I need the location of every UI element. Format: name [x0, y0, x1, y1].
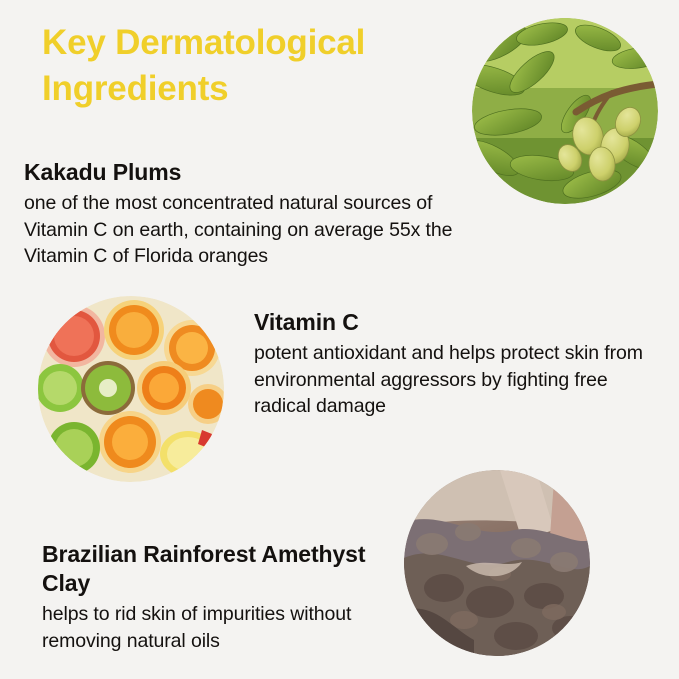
ingredients-infographic: Key Dermatological Ingredients — [0, 0, 679, 679]
section-kakadu-plums: Kakadu Plums one of the most concentrate… — [24, 158, 484, 270]
section-vitamin-c: Vitamin C potent antioxidant and helps p… — [254, 308, 654, 420]
sliced-citrus-fruit-photo — [38, 296, 224, 482]
amethyst-clay-powder-photo — [404, 470, 590, 656]
section-amethyst-clay: Brazilian Rainforest Amethyst Clay helps… — [42, 540, 382, 654]
section-heading: Vitamin C — [254, 308, 654, 337]
kakadu-plum-tree-photo — [472, 18, 658, 204]
page-title: Key Dermatological Ingredients — [42, 20, 482, 112]
section-body: potent antioxidant and helps protect ski… — [254, 340, 654, 420]
section-body: one of the most concentrated natural sou… — [24, 190, 484, 270]
section-body: helps to rid skin of impurities without … — [42, 601, 382, 654]
section-heading: Brazilian Rainforest Amethyst Clay — [42, 540, 382, 598]
section-heading: Kakadu Plums — [24, 158, 484, 187]
